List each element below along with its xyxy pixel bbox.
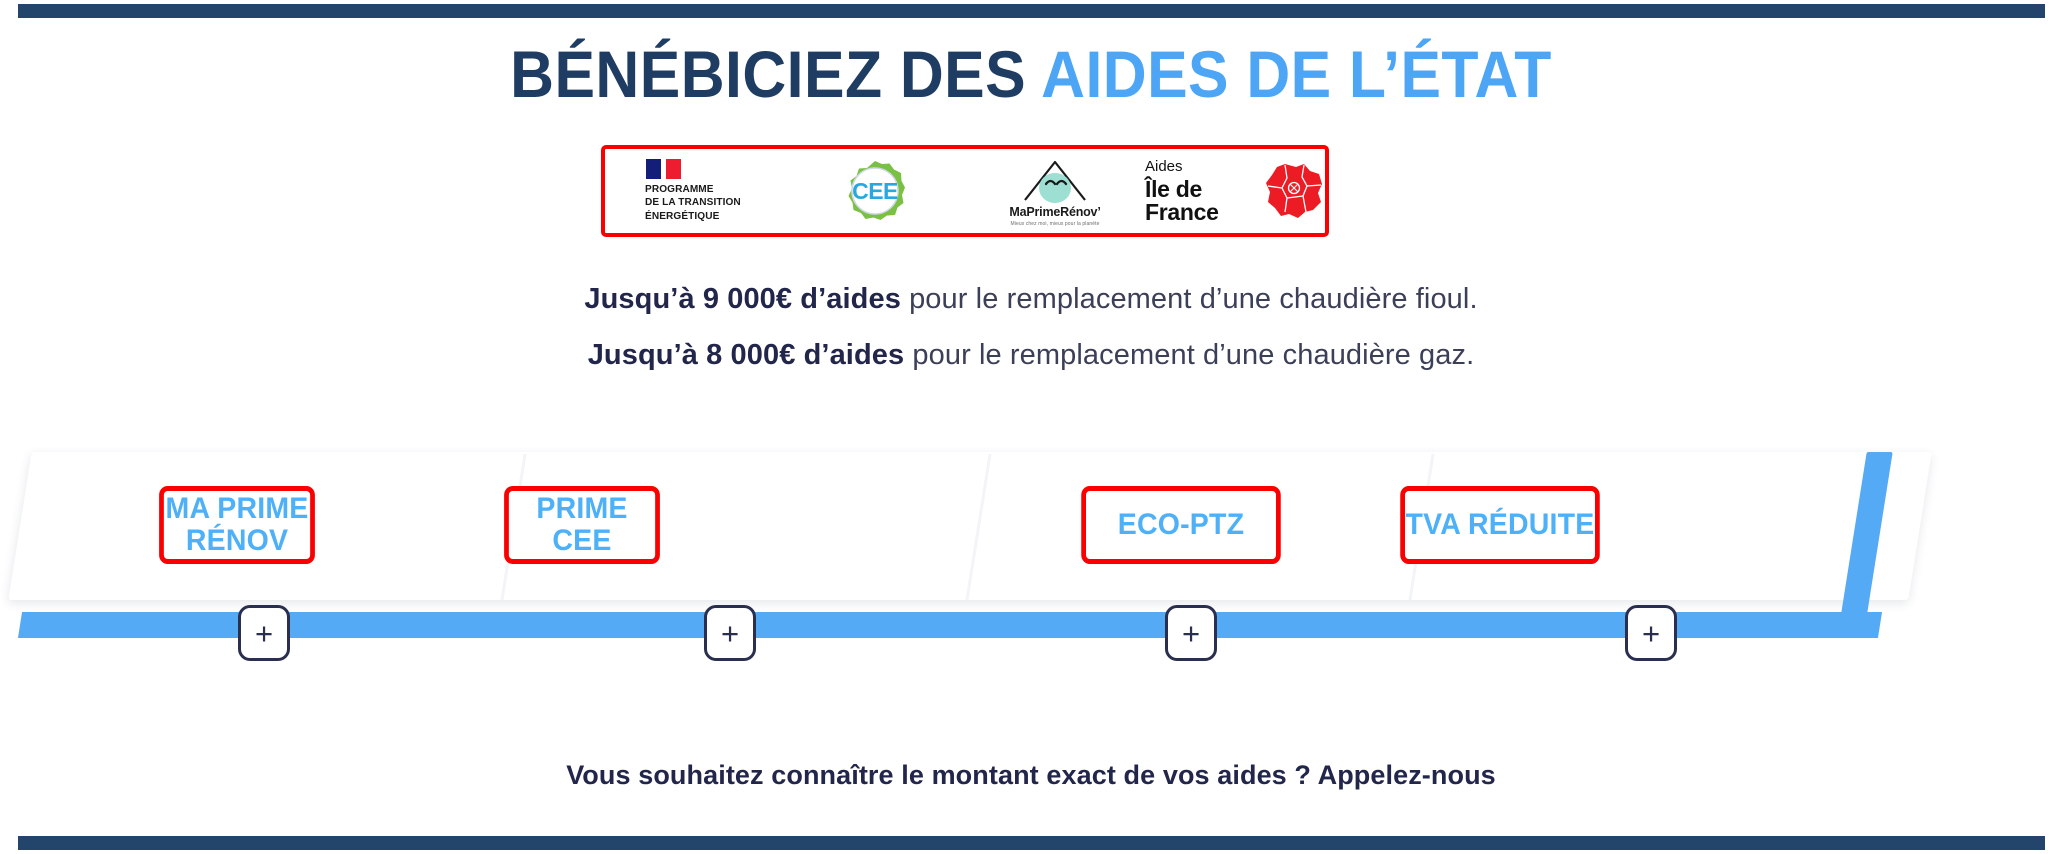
partner-logo-strip: PROGRAMME DE LA TRANSITION ÉNERGÉTIQUE C… (601, 145, 1329, 237)
logo-ptn-line2: DE LA TRANSITION (645, 196, 741, 209)
aid-amount-fioul-strong: Jusqu’à 9 000€ d’aides (584, 283, 901, 315)
maprimerenov-tagline: Mieux chez moi, mieux pour la planète (1010, 221, 1099, 227)
aid-card-ma-prime-renov[interactable]: MA PRIME RÉNOV (159, 486, 315, 564)
french-flag-icon (646, 159, 681, 179)
logo-programme-transition-energetique: PROGRAMME DE LA TRANSITION ÉNERGÉTIQUE (605, 149, 785, 233)
page-title-part-dark: BÉNÉBICIEZ DES (510, 37, 1026, 111)
idf-line2: Île de France (1145, 178, 1255, 224)
aid-amount-line-fioul: Jusqu’à 9 000€ d’aides pour le remplacem… (0, 283, 2062, 316)
logo-aides-ile-de-france: Aides Île de France (1145, 149, 1325, 233)
aids-timeline: MA PRIME RÉNOV PRIME CEE ECO-PTZ TVA RÉD… (0, 440, 2062, 670)
aid-amount-line-gaz: Jusqu’à 8 000€ d’aides pour le remplacem… (0, 339, 2062, 372)
maprimerenov-label: MaPrimeRénov’ (1009, 205, 1100, 219)
top-divider-bar (18, 4, 2045, 18)
bottom-divider-bar (18, 836, 2045, 850)
logo-maprimerenov: MaPrimeRénov’ Mieux chez moi, mieux pour… (965, 149, 1145, 233)
aid-amount-fioul-rest: pour le remplacement d’une chaudière fio… (901, 283, 1478, 315)
timeline-bar (18, 612, 1882, 638)
contact-question: Vous souhaitez connaître le montant exac… (0, 760, 2062, 791)
logo-cee: CEE (785, 149, 965, 233)
maprimerenov-house-icon (1015, 156, 1095, 204)
aid-card-eco-ptz[interactable]: ECO-PTZ (1081, 486, 1281, 564)
aid-card-prime-cee[interactable]: PRIME CEE (504, 486, 660, 564)
logo-ptn-line1: PROGRAMME (645, 183, 741, 196)
page-title: BÉNÉBICIEZ DES AIDES DE L’ÉTAT (82, 40, 1979, 109)
expand-button-prime-cee[interactable]: + (704, 605, 756, 661)
expand-button-tva-reduite[interactable]: + (1625, 605, 1677, 661)
aid-amount-gaz-rest: pour le remplacement d’une chaudière gaz… (904, 339, 1474, 371)
expand-button-ma-prime-renov[interactable]: + (238, 605, 290, 661)
page-title-part-light: AIDES DE L’ÉTAT (1041, 37, 1552, 111)
aid-amount-gaz-strong: Jusqu’à 8 000€ d’aides (588, 339, 905, 371)
ile-de-france-map-icon (1263, 162, 1325, 220)
idf-line1: Aides (1145, 159, 1183, 174)
logo-ptn-line3: ÉNERGÉTIQUE (645, 210, 741, 223)
cee-label: CEE (852, 178, 898, 205)
expand-button-eco-ptz[interactable]: + (1165, 605, 1217, 661)
aid-card-tva-reduite[interactable]: TVA RÉDUITE (1400, 486, 1600, 564)
